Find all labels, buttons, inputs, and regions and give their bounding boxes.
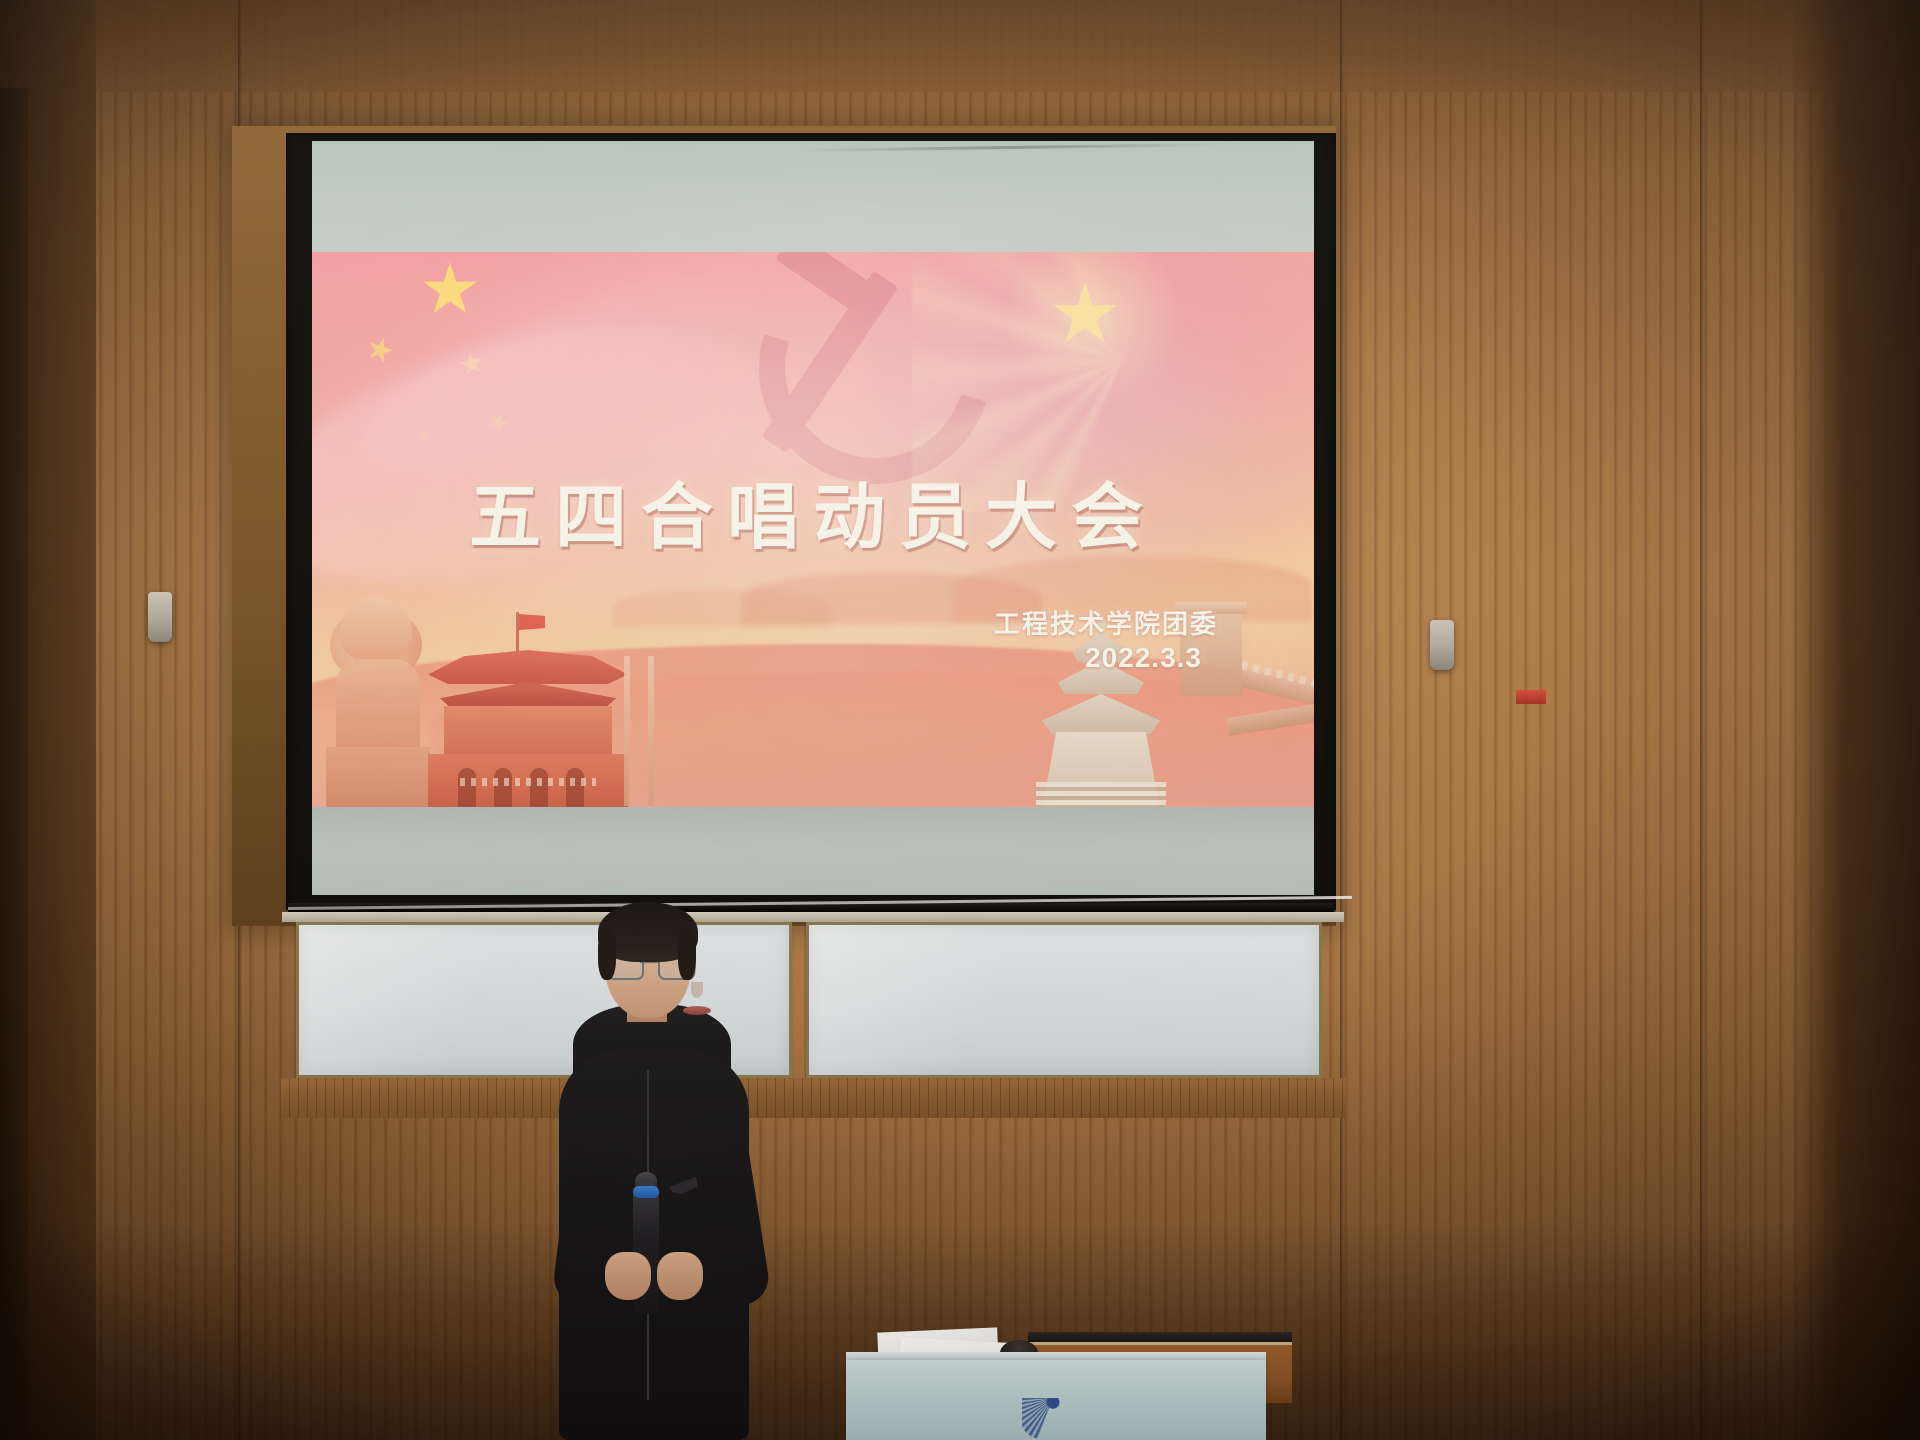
presenter-hand-right xyxy=(657,1252,703,1300)
scene-photo: 五四合唱动员大会 工程技术学院团委 2022.3.3 xyxy=(0,0,1920,1440)
slide-title: 五四合唱动员大会 xyxy=(312,458,1314,563)
presenter-hand-left xyxy=(605,1252,651,1300)
wall-speaker-right-icon xyxy=(1430,620,1454,670)
presenter-hair-side xyxy=(678,928,696,980)
wall-speaker-left-icon xyxy=(148,592,172,642)
screen-top-blank-band xyxy=(312,141,1314,252)
presenter-mouth xyxy=(683,1006,711,1015)
wall-wainscot xyxy=(280,1078,1346,1118)
presenter-hair-side xyxy=(598,928,616,980)
board-rail xyxy=(282,912,1344,922)
lectern-emblem-icon xyxy=(1022,1398,1084,1440)
microphone-blue-band xyxy=(633,1186,659,1198)
slide-date: 2022.3.3 xyxy=(1085,642,1202,674)
presenter xyxy=(553,900,763,1440)
whiteboard-right xyxy=(806,922,1322,1078)
exit-marker-icon xyxy=(1516,690,1546,704)
slide-organization: 工程技术学院团委 xyxy=(994,604,1218,641)
projection-screen: 五四合唱动员大会 工程技术学院团委 2022.3.3 xyxy=(312,141,1314,895)
whiteboard-area xyxy=(282,912,1344,1080)
presentation-slide: 五四合唱动员大会 工程技术学院团委 2022.3.3 xyxy=(312,252,1314,807)
presenter-nose xyxy=(691,982,703,998)
screen-bottom-blank-band xyxy=(312,807,1314,895)
